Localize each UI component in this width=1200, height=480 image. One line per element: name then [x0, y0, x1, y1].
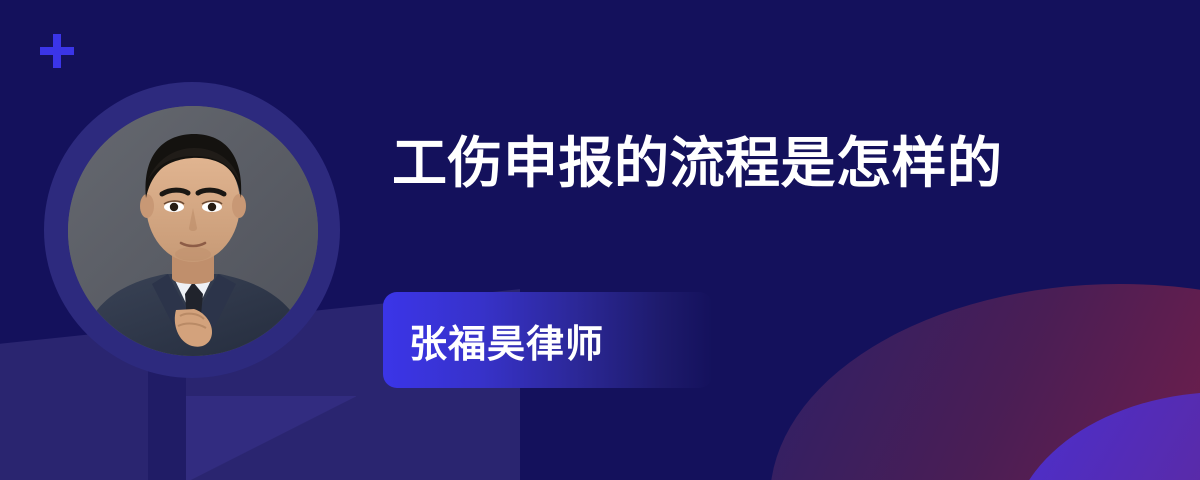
- content-area: 工伤申报的流程是怎样的 张福昊律师: [390, 0, 1090, 480]
- vertical-stripe-shape: [148, 352, 186, 480]
- author-name: 张福昊律师: [383, 313, 604, 368]
- plus-icon: [40, 34, 74, 68]
- author-badge[interactable]: 张福昊律师: [383, 292, 713, 388]
- triangle-wedge-shape: [186, 396, 356, 480]
- page-title: 工伤申报的流程是怎样的: [392, 132, 1003, 194]
- avatar: [68, 106, 318, 356]
- promo-banner: 工伤申报的流程是怎样的 张福昊律师: [0, 0, 1200, 480]
